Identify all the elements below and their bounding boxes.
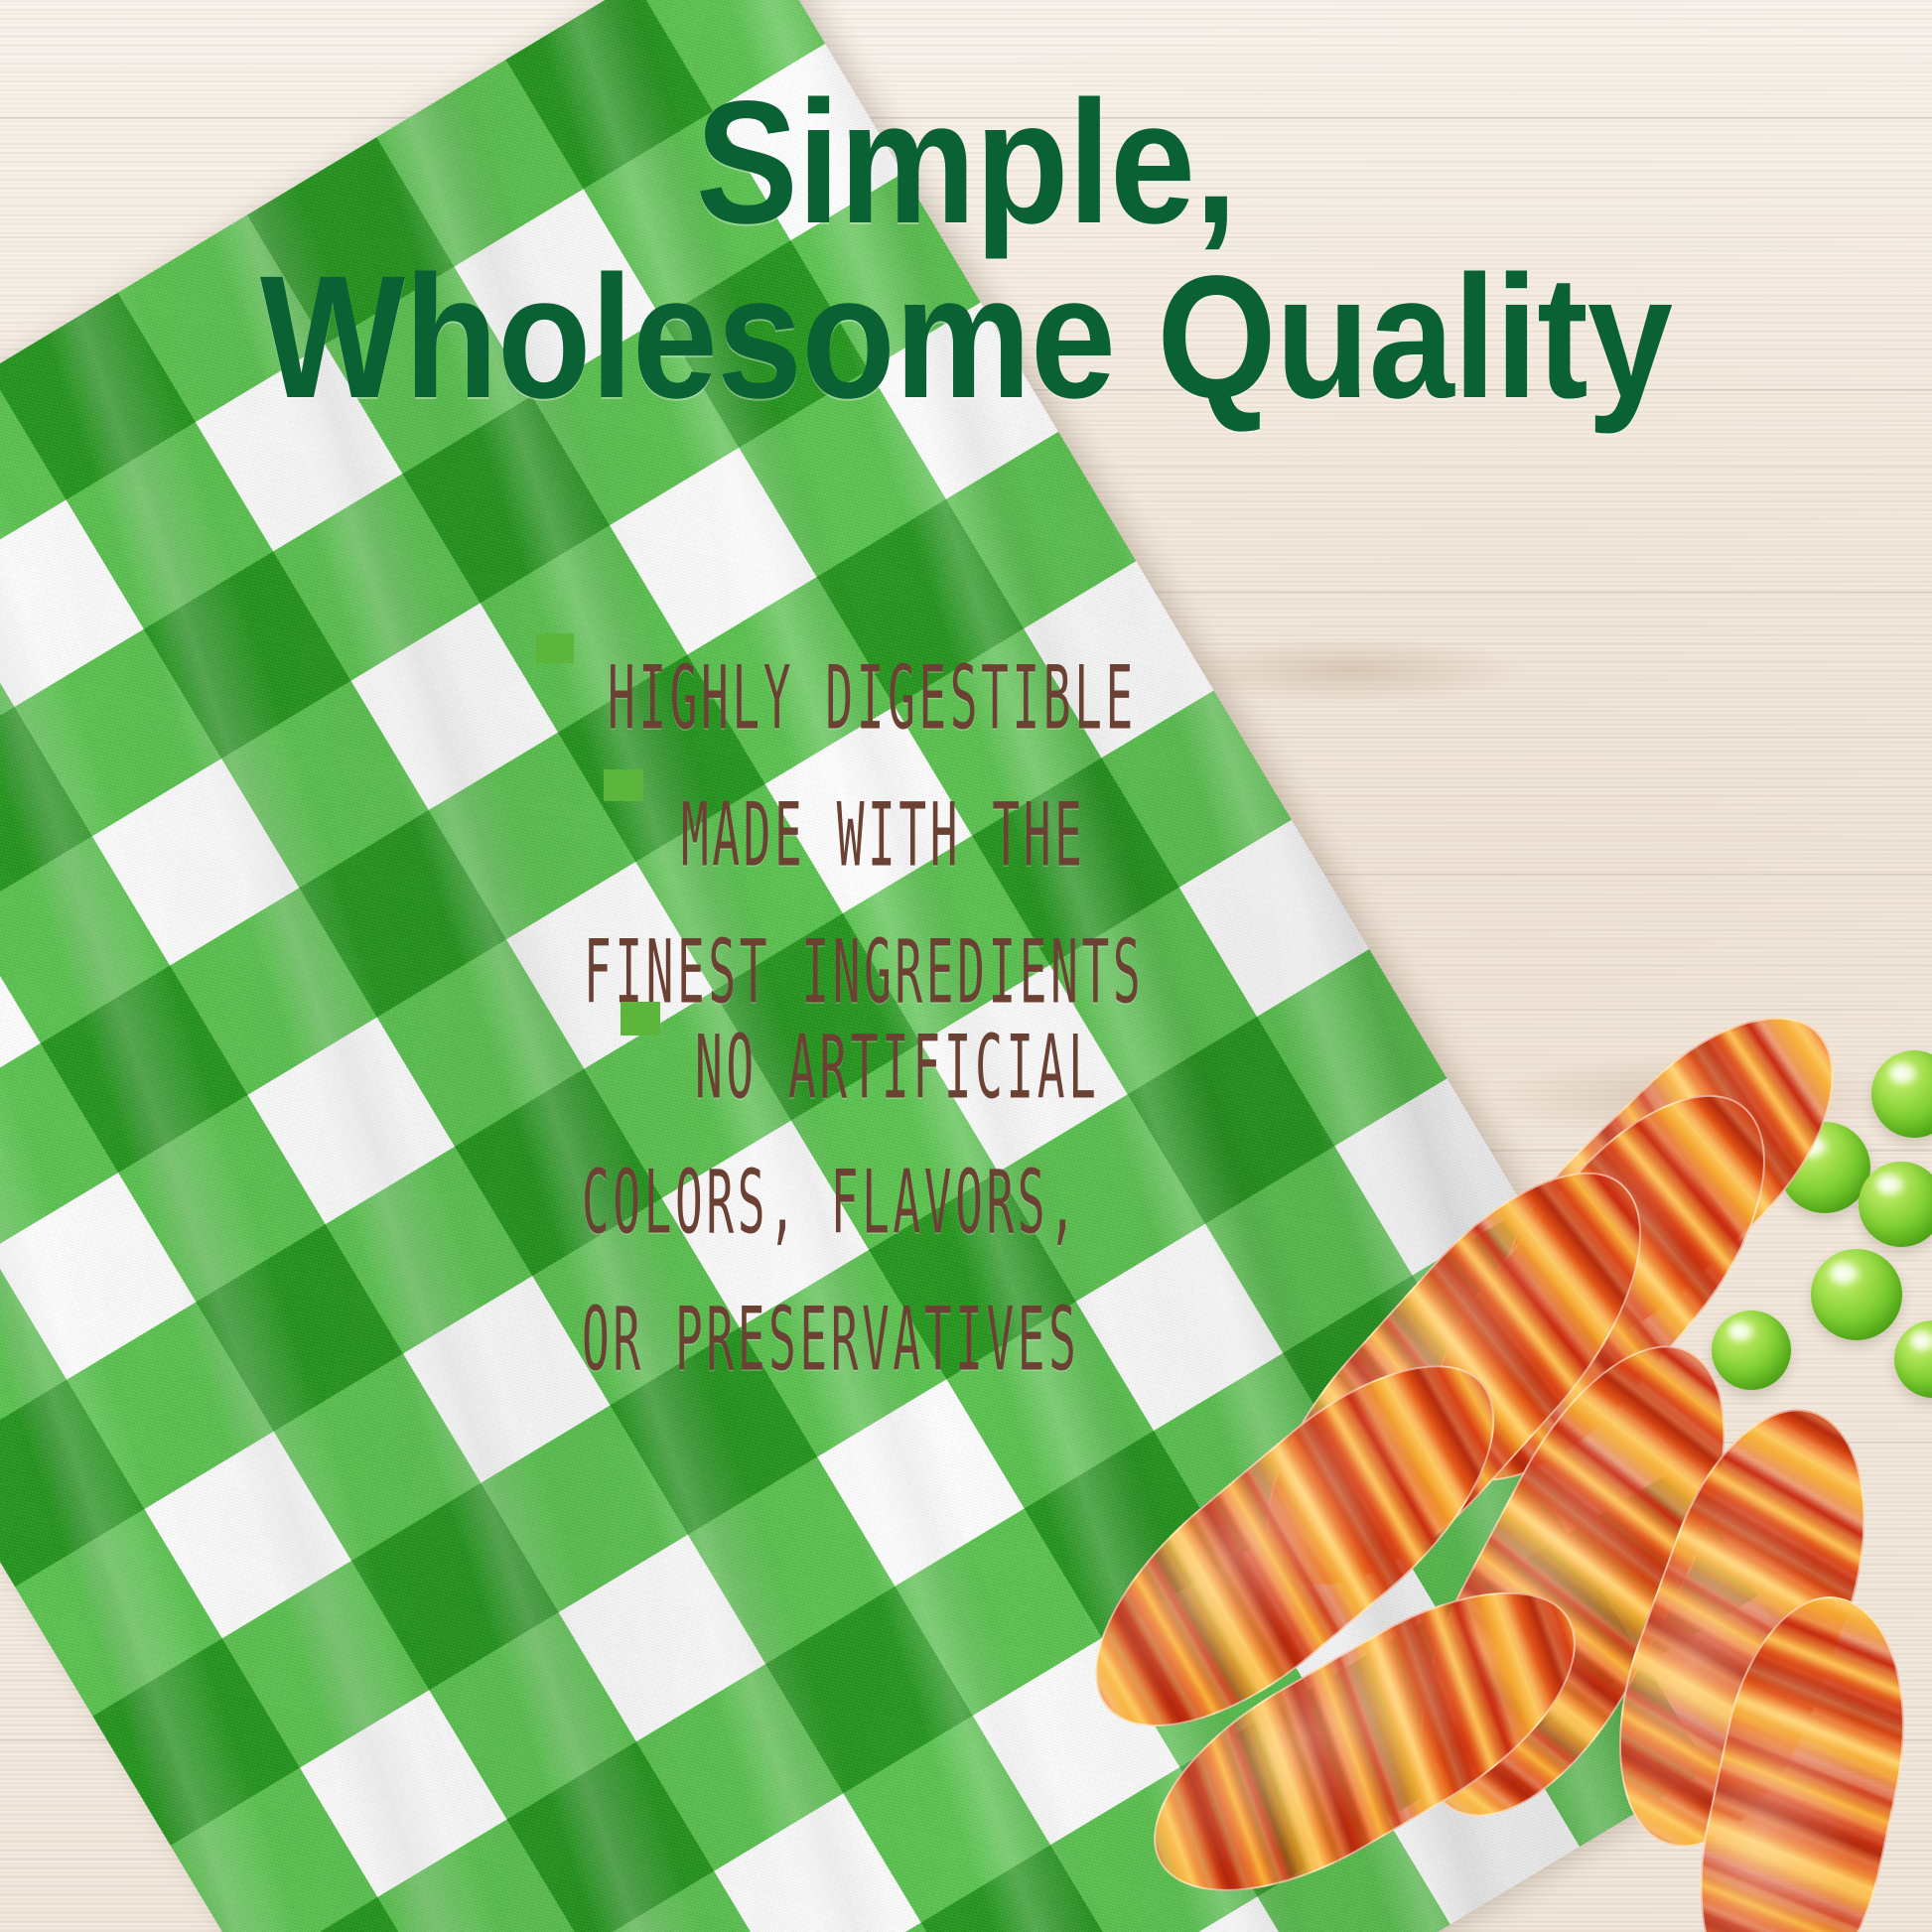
promo-graphic: Simple, Wholesome Quality HIGHLY DIGESTI… [0, 0, 1932, 1932]
bullet-marker-1 [536, 633, 574, 663]
bullet-text-2-line-1: MADE WITH THE [681, 791, 1085, 885]
bullet-marker-2 [604, 769, 643, 801]
bacon-strips [899, 1058, 1932, 1932]
bullet-text-2-line-2: FINEST INGREDIENTS [584, 928, 1144, 1022]
bullet-text-1-line-1: HIGHLY DIGESTIBLE [608, 654, 1137, 748]
bullet-marker-3 [621, 1002, 660, 1035]
